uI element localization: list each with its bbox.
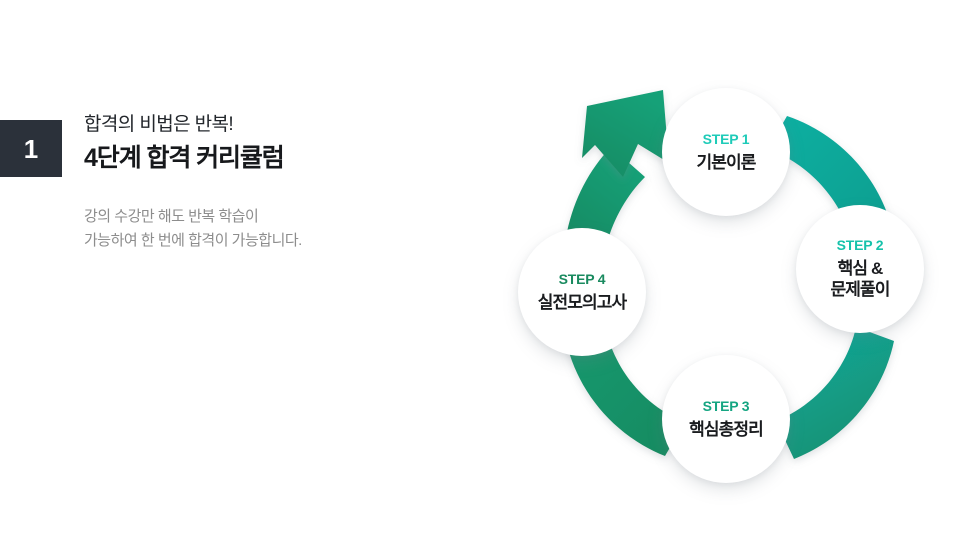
- intro-panel: 1 합격의 비법은 반복! 4단계 합격 커리큘럼 강의 수강만 해도 반복 학…: [0, 0, 470, 557]
- step2-title-line-2: 문제풀이: [831, 279, 890, 301]
- kicker-text: 합격의 비법은 반복!: [84, 112, 444, 138]
- step1-label: STEP 1: [703, 131, 750, 148]
- step3-title: 핵심총정리: [689, 419, 763, 441]
- description-line-1: 강의 수강만 해도 반복 학습이: [84, 205, 424, 229]
- arc-step2-to-step3: [776, 327, 894, 459]
- step4-title-line-1: 실전모의고사: [538, 292, 626, 314]
- step1-title-line-1: 기본이론: [697, 152, 756, 174]
- cycle-node-step1[interactable]: STEP 1 기본이론: [662, 88, 790, 216]
- step2-label: STEP 2: [837, 237, 884, 254]
- cycle-node-step3[interactable]: STEP 3 핵심총정리: [662, 355, 790, 483]
- cycle-arrowhead-icon: [582, 90, 669, 177]
- headline-group: 합격의 비법은 반복! 4단계 합격 커리큘럼: [84, 112, 444, 174]
- step1-title: 기본이론: [697, 152, 756, 174]
- page-title: 4단계 합격 커리큘럼: [84, 142, 444, 175]
- description-text: 강의 수강만 해도 반복 학습이 가능하여 한 번에 합격이 가능합니다.: [84, 205, 424, 254]
- curriculum-cycle-diagram: STEP 1 기본이론 STEP 2 핵심 & 문제풀이 STEP 3 핵심총정…: [495, 60, 965, 510]
- cycle-node-step4[interactable]: STEP 4 실전모의고사: [518, 228, 646, 356]
- step3-label: STEP 3: [703, 398, 750, 415]
- section-number-badge: 1: [0, 120, 62, 177]
- step3-title-line-1: 핵심총정리: [689, 419, 763, 441]
- step2-title: 핵심 & 문제풀이: [831, 258, 890, 302]
- step2-title-line-1: 핵심 &: [831, 258, 890, 280]
- cycle-node-step2[interactable]: STEP 2 핵심 & 문제풀이: [796, 205, 924, 333]
- step4-label: STEP 4: [559, 271, 606, 288]
- description-line-2: 가능하여 한 번에 합격이 가능합니다.: [84, 229, 424, 253]
- step4-title: 실전모의고사: [538, 292, 626, 314]
